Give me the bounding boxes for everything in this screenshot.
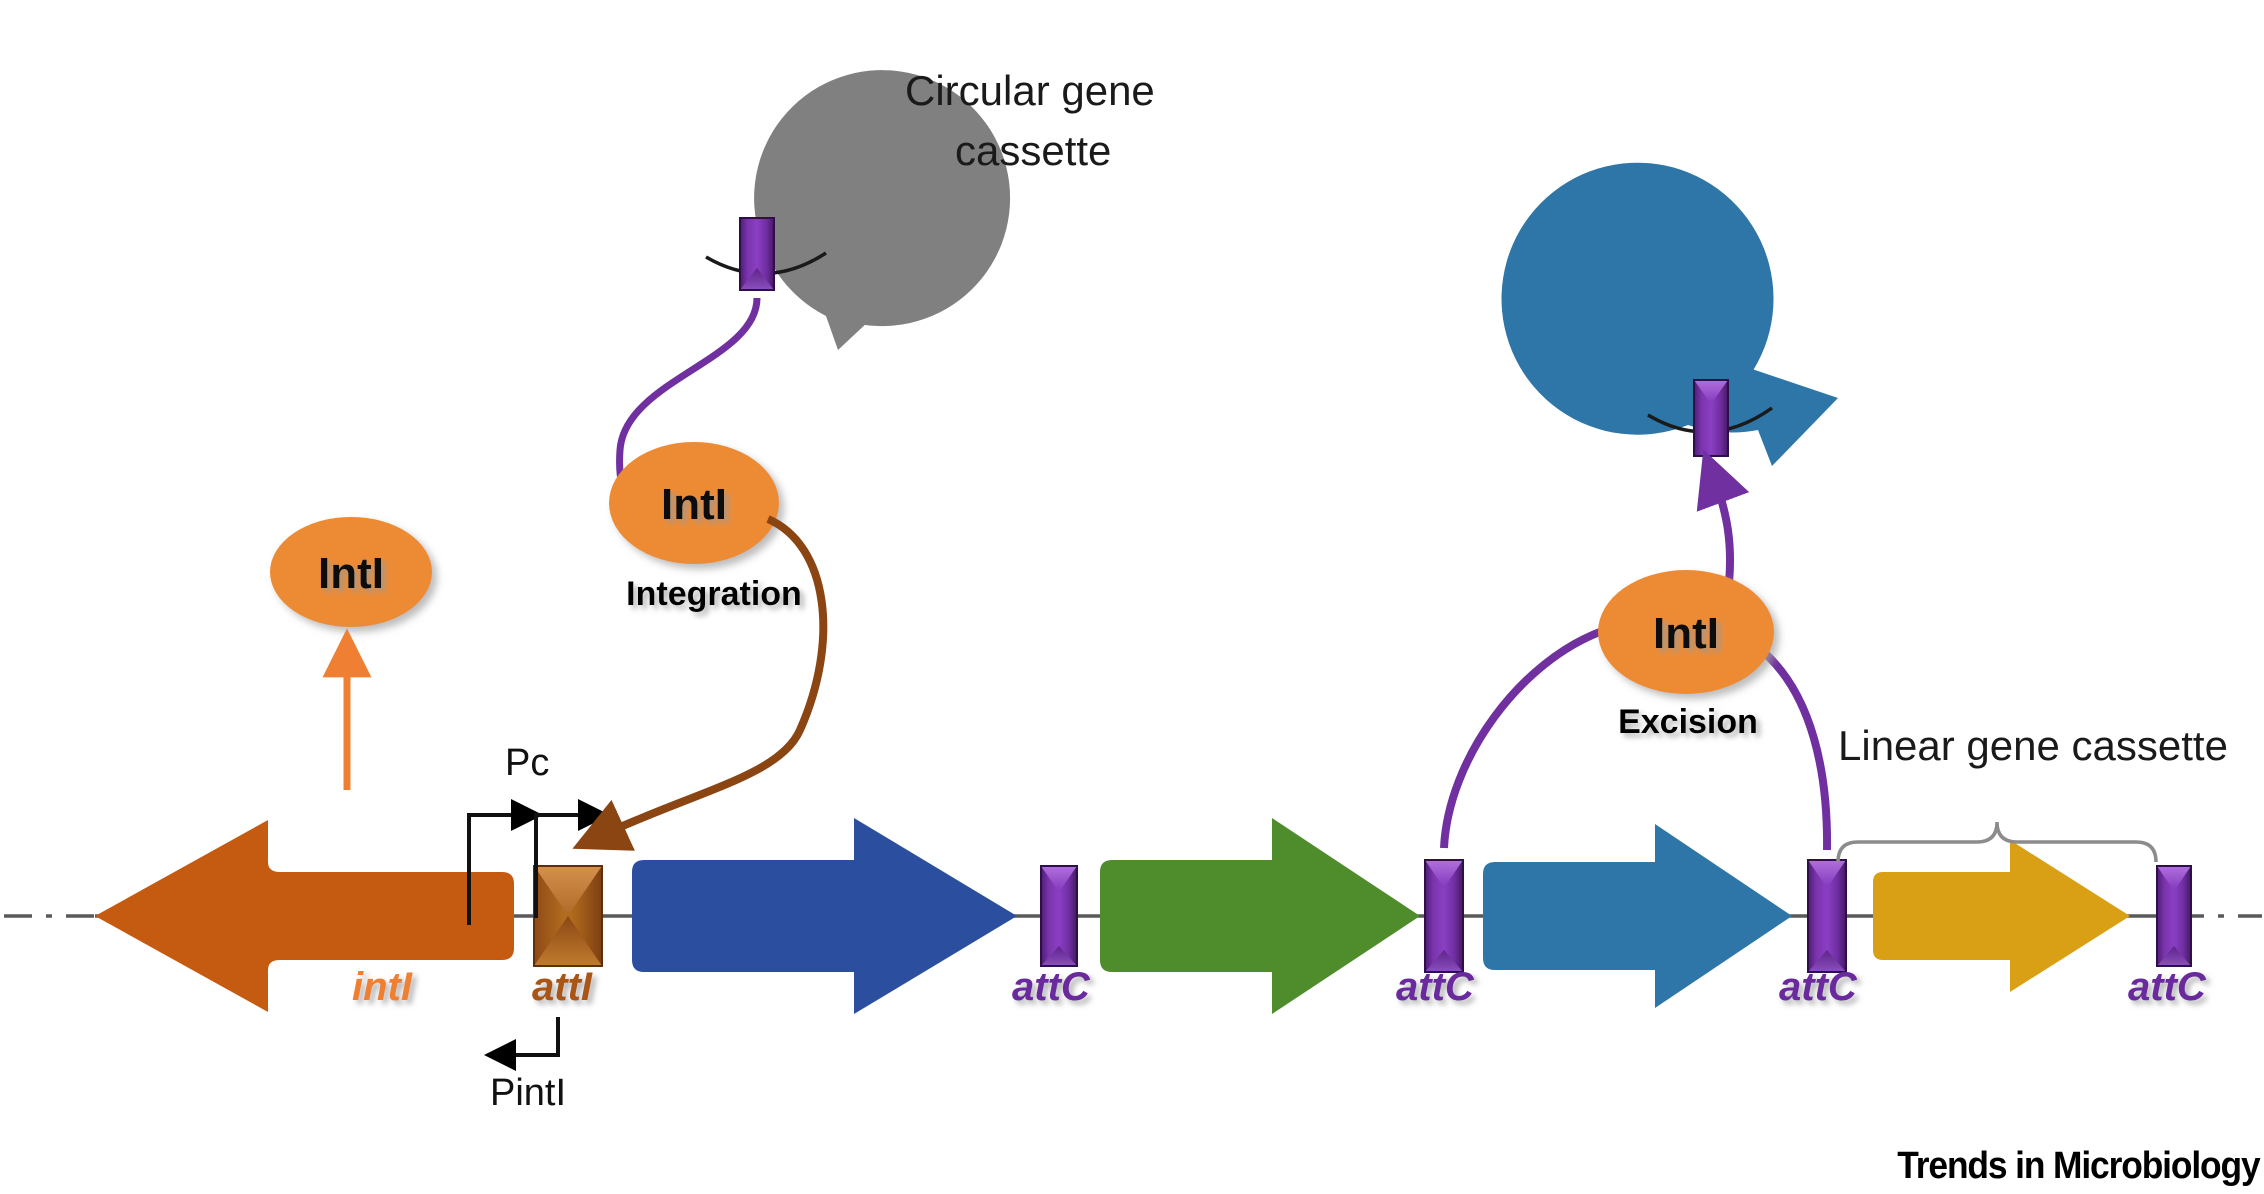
intI-gene-shape	[95, 820, 514, 1012]
promoter-pintI-arrow	[512, 1017, 558, 1055]
attI-site[interactable]	[534, 866, 602, 966]
figure-canvas: intI attI Pc PintI	[0, 0, 2264, 1194]
cassette-gene-3-shape	[1483, 824, 1792, 1008]
attC-site-2[interactable]	[1425, 860, 1463, 972]
inti-integration-label: IntI	[661, 480, 727, 529]
circular-cassette-gray-attC[interactable]	[740, 218, 774, 290]
excision-annotation: Excision	[1618, 703, 1758, 741]
promoter-pintI	[512, 1017, 558, 1055]
cassette-gene-2-shape	[1100, 818, 1420, 1014]
circular-cassette-label-part2: cassette	[955, 127, 1111, 174]
cassette-gene-1-shape	[632, 818, 1017, 1014]
attI-site-label: attI	[532, 965, 593, 1009]
journal-brand: Trends in Microbiology	[1898, 1145, 2260, 1188]
circular-cassette-label-part1: Circular gene	[905, 67, 1155, 114]
cassette-gene-3[interactable]	[1483, 824, 1792, 1008]
cassette-gene-4-shape	[1873, 840, 2130, 992]
attC-site-3[interactable]	[1808, 860, 1846, 972]
attC-site-1[interactable]	[1041, 866, 1077, 966]
cassette-gene-2[interactable]	[1100, 818, 1420, 1014]
excised-cassette-blue-arrow	[1502, 163, 1838, 466]
promoter-pintI-label: PintI	[490, 1072, 566, 1114]
attC-site-1-label: attC	[1012, 965, 1091, 1009]
linear-cassette-bracket	[1838, 822, 2156, 862]
inti-excision-label: IntI	[1653, 609, 1719, 658]
excision-curve-left	[1444, 630, 1605, 848]
intI-gene-label: intI	[352, 965, 413, 1009]
excision-curve-right	[1755, 645, 1827, 850]
excised-cassette-blue[interactable]	[1502, 163, 1838, 466]
integration-annotation: Integration	[626, 575, 802, 613]
attC-site-2-label: attC	[1396, 965, 1475, 1009]
attC-site-4-label: attC	[2128, 965, 2207, 1009]
cassette-gene-4[interactable]	[1873, 840, 2130, 992]
integron-diagram: intI attI Pc PintI	[0, 0, 2264, 1194]
inti-expressed-label: IntI	[318, 549, 384, 598]
intI-gene-arrow[interactable]	[95, 820, 514, 1012]
bracket-curly	[1838, 822, 2156, 862]
cassette-gene-1[interactable]	[632, 818, 1017, 1014]
attC-site-3-label: attC	[1779, 965, 1858, 1009]
excised-cassette-blue-attC[interactable]	[1694, 380, 1728, 456]
promoter-pc-label: Pc	[505, 742, 549, 784]
attC-site-4[interactable]	[2157, 866, 2191, 966]
integration-arrow	[600, 519, 823, 836]
linear-cassette-label: Linear gene cassette	[1838, 722, 2228, 769]
